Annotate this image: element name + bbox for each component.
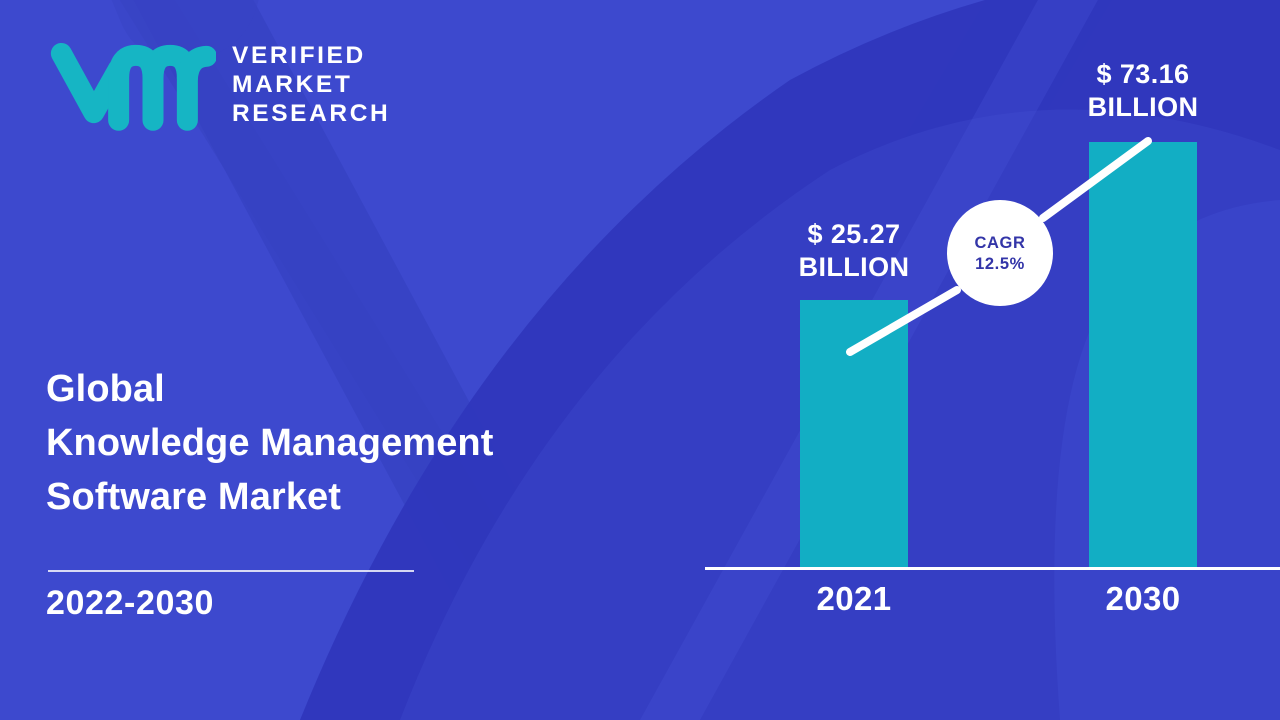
cagr-badge[interactable]: CAGR 12.5% (947, 200, 1053, 306)
infographic-canvas: VERIFIED MARKET RESEARCH Global Knowledg… (0, 0, 1280, 720)
value-label-2021: $ 25.27 BILLION (746, 218, 962, 284)
bar-2030[interactable] (1089, 142, 1197, 568)
tick-label-2030: 2030 (1033, 580, 1253, 618)
value-amount-2030: $ 73.16 (1035, 58, 1251, 91)
bar-2021[interactable] (800, 300, 908, 568)
value-amount-2021: $ 25.27 (746, 218, 962, 251)
cagr-value: 12.5% (975, 254, 1025, 274)
tick-label-2021: 2021 (744, 580, 964, 618)
cagr-label: CAGR (975, 233, 1026, 253)
value-unit-2030: BILLION (1035, 91, 1251, 124)
bar-chart: $ 25.27 BILLION $ 73.16 BILLION CAGR 12.… (0, 0, 1280, 720)
value-unit-2021: BILLION (746, 251, 962, 284)
value-label-2030: $ 73.16 BILLION (1035, 58, 1251, 124)
